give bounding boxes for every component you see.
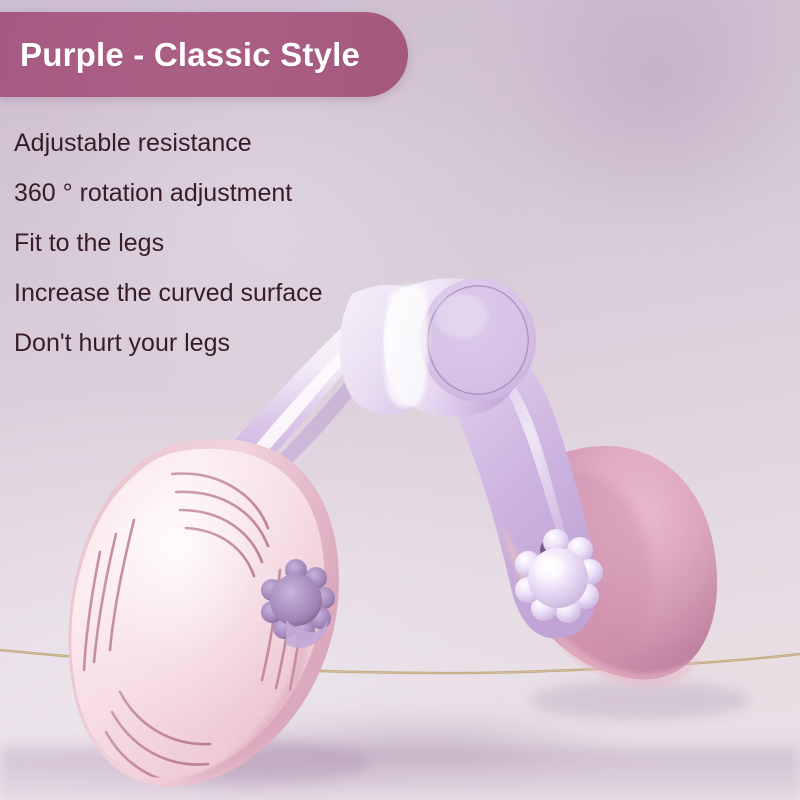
feature-item-5: Don't hurt your legs xyxy=(14,318,444,368)
product-promo-image: Purple - Classic Style Adjustable resist… xyxy=(0,0,800,800)
feature-item-4: Increase the curved surface xyxy=(14,268,444,318)
banner-title-text: Purple - Classic Style xyxy=(0,36,360,74)
feature-item-2: 360 ° rotation adjustment xyxy=(14,168,444,218)
background-floor-band xyxy=(0,742,800,800)
background-corner-shade xyxy=(416,0,800,296)
feature-item-3: Fit to the legs xyxy=(14,218,444,268)
feature-item-1: Adjustable resistance xyxy=(14,118,444,168)
feature-list: Adjustable resistance 360 ° rotation adj… xyxy=(14,118,444,368)
title-banner: Purple - Classic Style xyxy=(0,12,408,97)
